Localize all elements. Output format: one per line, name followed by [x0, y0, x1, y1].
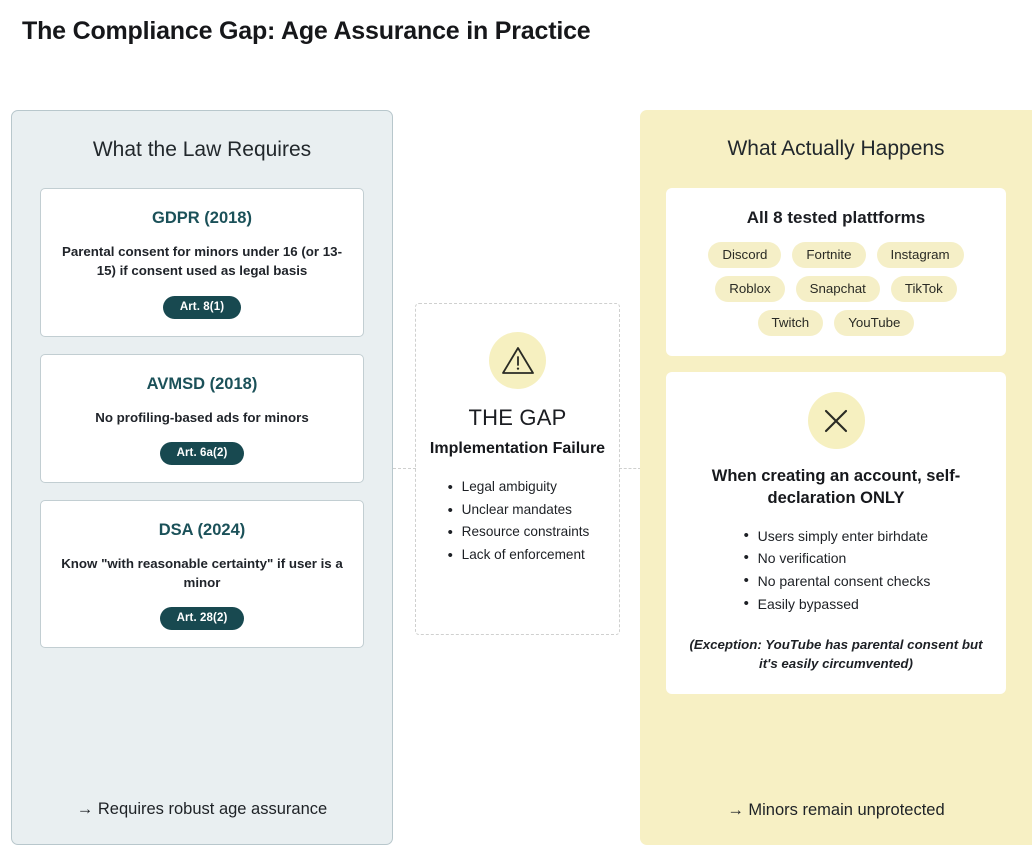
platform-chip-tiktok[interactable]: TikTok [891, 276, 957, 302]
law-panel-heading: What the Law Requires [12, 138, 392, 162]
list-item: No verification [742, 547, 931, 570]
self-declaration-bullet-list: Users simply enter birhdate No verificat… [742, 525, 931, 616]
law-card-description: Parental consent for minors under 16 (or… [55, 242, 349, 281]
x-cross-icon [808, 392, 865, 449]
list-item: No parental consent checks [742, 570, 931, 593]
tested-platforms-card[interactable]: All 8 tested plattforms Discord Fortnite… [666, 188, 1006, 356]
platform-chip-list: Discord Fortnite Instagram Roblox Snapch… [682, 242, 990, 336]
reality-panel-footer: → Minors remain unprotected [640, 801, 1032, 820]
list-item: Easily bypassed [742, 593, 931, 616]
law-panel-footer: → Requires robust age assurance [12, 800, 392, 819]
list-item: Users simply enter birhdate [742, 525, 931, 548]
law-card-title: AVMSD (2018) [55, 375, 349, 394]
platform-chip-snapchat[interactable]: Snapchat [796, 276, 880, 302]
self-declaration-card[interactable]: When creating an account, self-declarati… [666, 372, 1006, 694]
law-article-badge: Art. 8(1) [163, 296, 241, 319]
reality-panel-heading: What Actually Happens [640, 137, 1032, 161]
law-card-list: GDPR (2018) Parental consent for minors … [12, 188, 392, 648]
law-card-avmsd[interactable]: AVMSD (2018) No profiling-based ads for … [40, 354, 364, 483]
list-item: Resource constraints [446, 521, 590, 544]
what-actually-happens-panel: What Actually Happens All 8 tested platt… [640, 110, 1032, 845]
gap-subtitle: Implementation Failure [416, 439, 619, 460]
list-item: Lack of enforcement [446, 544, 590, 567]
platform-chip-instagram[interactable]: Instagram [877, 242, 964, 268]
law-card-title: GDPR (2018) [55, 209, 349, 228]
platform-chip-roblox[interactable]: Roblox [715, 276, 784, 302]
law-article-badge: Art. 6a(2) [160, 442, 245, 465]
connector-line-left [393, 468, 416, 469]
the-gap-box: THE GAP Implementation Failure Legal amb… [415, 303, 620, 635]
list-item: Unclear mandates [446, 499, 590, 522]
self-declaration-headline: When creating an account, self-declarati… [682, 465, 990, 510]
law-article-badge: Art. 28(2) [160, 607, 245, 630]
law-card-dsa[interactable]: DSA (2024) Know "with reasonable certain… [40, 500, 364, 649]
platform-chip-youtube[interactable]: YouTube [834, 310, 914, 336]
reality-card-list: All 8 tested plattforms Discord Fortnite… [640, 188, 1032, 694]
law-card-title: DSA (2024) [55, 521, 349, 540]
platform-chip-fortnite[interactable]: Fortnite [792, 242, 865, 268]
connector-line-right [619, 468, 641, 469]
law-card-gdpr[interactable]: GDPR (2018) Parental consent for minors … [40, 188, 364, 337]
law-card-description: No profiling-based ads for minors [55, 408, 349, 427]
law-requirements-panel: What the Law Requires GDPR (2018) Parent… [11, 110, 393, 845]
platform-chip-discord[interactable]: Discord [708, 242, 781, 268]
warning-triangle-icon [489, 332, 546, 389]
gap-bullet-list: Legal ambiguity Unclear mandates Resourc… [446, 476, 590, 567]
platform-chip-twitch[interactable]: Twitch [758, 310, 824, 336]
list-item: Legal ambiguity [446, 476, 590, 499]
law-card-description: Know "with reasonable certainty" if user… [55, 554, 349, 593]
tested-platforms-title: All 8 tested plattforms [682, 208, 990, 228]
page-title: The Compliance Gap: Age Assurance in Pra… [22, 17, 591, 46]
exception-note: (Exception: YouTube has parental consent… [682, 635, 990, 674]
gap-title: THE GAP [416, 405, 619, 431]
